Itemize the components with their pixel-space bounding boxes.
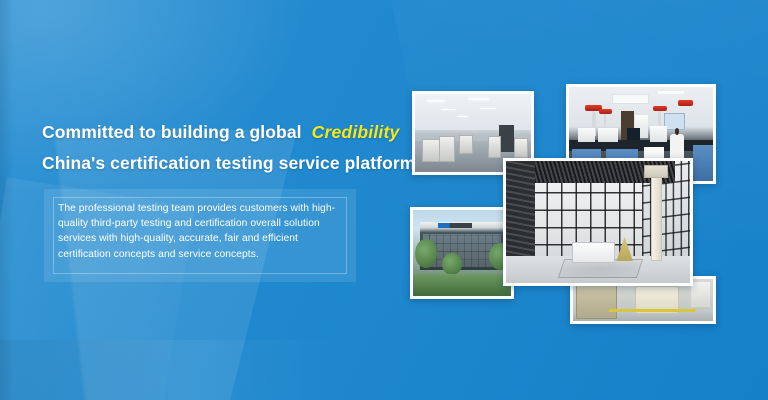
wall-poster [664, 113, 685, 130]
extraction-hood-2 [599, 109, 612, 115]
tree-left [415, 239, 437, 268]
description-text: The professional testing team provides c… [58, 201, 350, 262]
headline-accent-word: Credibility [312, 122, 400, 142]
hedge [413, 274, 511, 296]
extraction-hood-3 [653, 106, 667, 112]
cabinet-blue-3 [693, 145, 713, 181]
instrument-1 [578, 128, 595, 141]
instrument-3 [650, 126, 667, 141]
equipment-2 [439, 136, 455, 161]
equipment-1 [422, 139, 440, 161]
equipment-4 [488, 136, 500, 158]
headline-line-1: Committed to building a globalCredibilit… [42, 124, 442, 142]
background-bottom-band [0, 340, 340, 400]
photo-office-building-image [413, 210, 511, 296]
ceiling [415, 94, 531, 130]
chamber-door [576, 281, 617, 319]
test-table [572, 242, 614, 264]
antenna-mast-head [644, 165, 668, 178]
building-signage [438, 223, 471, 227]
headline-block: Committed to building a globalCredibilit… [42, 124, 442, 172]
equipment-rack [691, 282, 711, 307]
monitor [627, 128, 640, 139]
background-edge-shade [0, 0, 14, 400]
headline-line-2: China's certification testing service pl… [42, 155, 442, 173]
tree-center [442, 253, 462, 275]
promotional-banner: Committed to building a globalCredibilit… [0, 0, 768, 400]
photo-emc-chamber [503, 158, 693, 286]
equipment-5 [514, 138, 529, 159]
extraction-hood-4 [678, 100, 692, 106]
instrument-2 [598, 128, 618, 141]
floor-marking-tape [609, 309, 698, 312]
doorway [499, 125, 514, 152]
antenna-mast [651, 168, 662, 260]
photo-office-building [410, 207, 514, 299]
headline-line-1-text: Committed to building a global [42, 122, 302, 142]
equipment-3 [459, 135, 473, 154]
photo-emc-chamber-image [506, 161, 690, 283]
